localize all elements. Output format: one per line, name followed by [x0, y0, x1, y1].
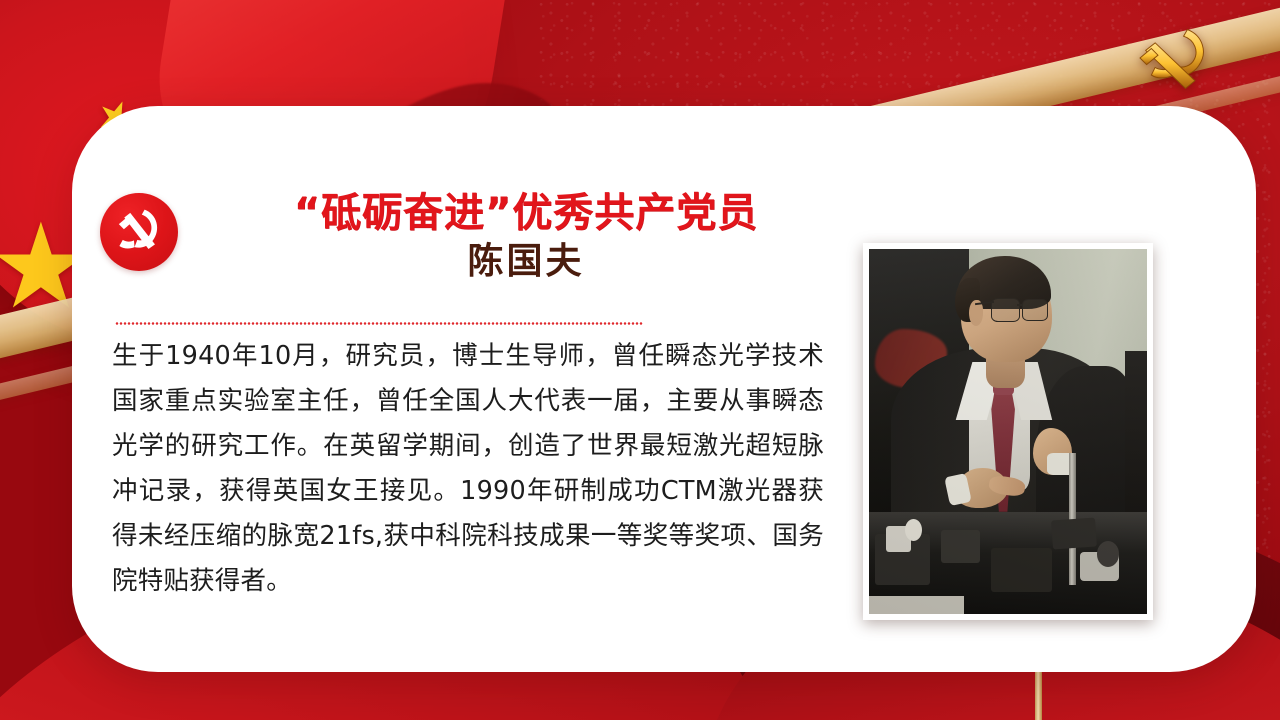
- person-name: 陈国夫: [196, 239, 856, 286]
- biography-text: 生于1940年10月，研究员，博士生导师，曾任瞬态光学技术国家重点实验室主任，曾…: [112, 334, 824, 604]
- party-emblem-hammer-sickle-icon: [1128, 22, 1224, 94]
- dotted-divider: [115, 322, 643, 325]
- slide-root: ★ ★ ★ ★ ★: [0, 0, 1280, 720]
- portrait-photo-frame: [863, 243, 1153, 620]
- party-badge-hammer-sickle-icon: [100, 193, 178, 271]
- portrait-photo: [869, 249, 1147, 614]
- page-title: “砥砺奋进”优秀共产党员: [196, 190, 856, 237]
- title-block: “砥砺奋进”优秀共产党员 陈国夫: [196, 190, 856, 286]
- photo-gloss-overlay: [869, 249, 1147, 614]
